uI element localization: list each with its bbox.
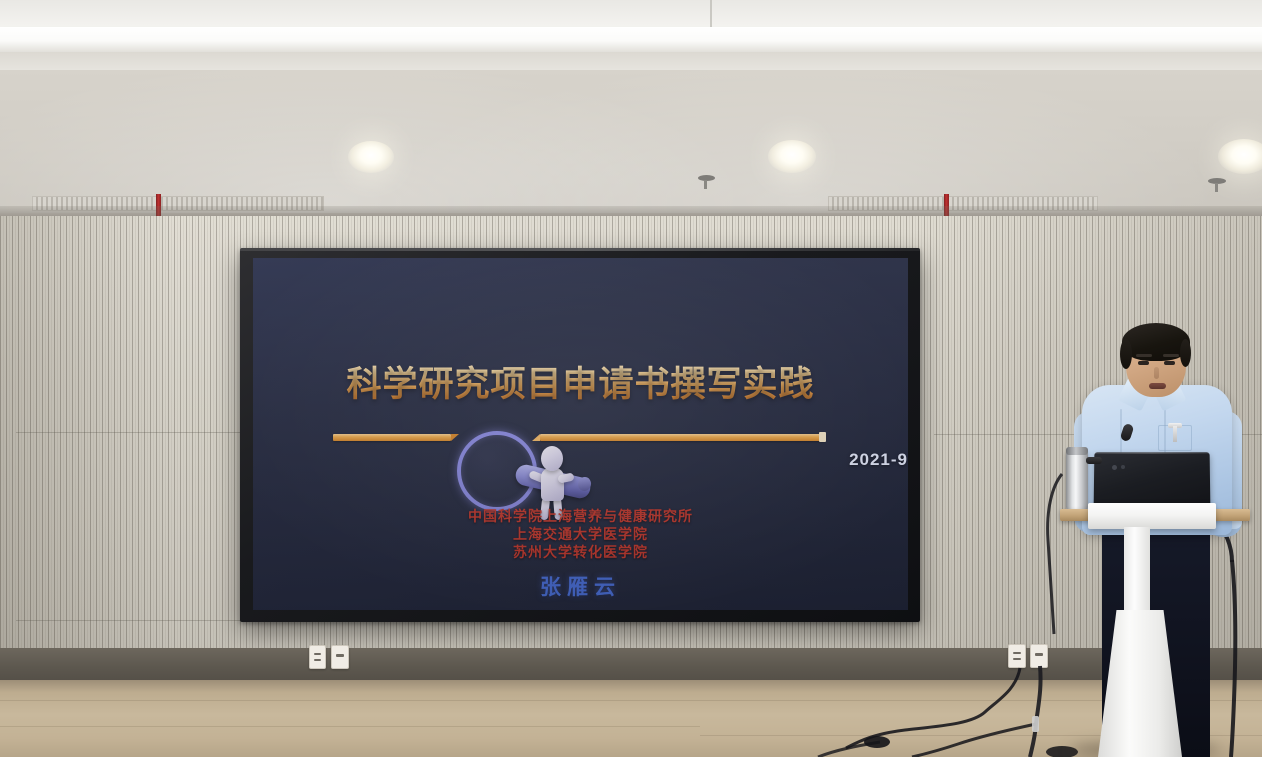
speaker-hair-side [1180, 339, 1191, 367]
laptop-lens-icon [1121, 465, 1125, 469]
affiliation-line: 上海交通大学医学院 [253, 526, 908, 544]
affiliation-line: 中国科学院上海营养与健康研究所 [253, 508, 908, 526]
presentation-slide[interactable]: 科学研究项目申请书撰写实践 2021-9 中国科学院上海营养与健康研究所 上海交… [253, 258, 908, 610]
mouth [1149, 383, 1166, 389]
panel-seam [16, 432, 246, 433]
slide-divider-cap [819, 432, 826, 442]
laptop-lens-icon [1112, 465, 1117, 470]
speaker-hair-side [1120, 339, 1132, 369]
laptop[interactable] [1094, 452, 1211, 510]
wall-outlet[interactable] [1030, 644, 1048, 668]
eyebrow-left [1136, 354, 1152, 357]
floor-plank-seam [0, 726, 700, 727]
wall-outlet[interactable] [331, 645, 349, 669]
nose [1154, 367, 1159, 379]
laptop-lid-edge [1094, 452, 1210, 454]
ceiling-sprinkler-stem [704, 180, 707, 189]
eye-left [1138, 361, 1149, 365]
figure-head [541, 446, 563, 471]
pen-body-icon [1173, 426, 1177, 442]
downlight-icon [768, 140, 816, 173]
affiliation-line: 苏州大学转化医学院 [253, 544, 908, 562]
ceiling-beam-face [0, 52, 1262, 72]
thermos[interactable] [1066, 450, 1088, 510]
podium-top [1088, 503, 1216, 529]
thermos-cap[interactable] [1066, 447, 1088, 455]
eye-right [1164, 361, 1175, 365]
wall-outlet[interactable] [1008, 644, 1026, 668]
slide-date: 2021-9 [253, 450, 908, 470]
eyebrow-right [1163, 354, 1179, 357]
slide-title: 科学研究项目申请书撰写实践 [253, 356, 908, 407]
ceiling-sprinkler-stem [1215, 183, 1218, 192]
figure-body [541, 468, 564, 501]
display-bezel-highlight [240, 248, 920, 251]
presenter-name: 张雁云 [253, 571, 908, 601]
panel-seam [16, 620, 246, 621]
downlight-icon [348, 141, 394, 173]
slide-divider-right [540, 434, 825, 441]
photo-scene: 科学研究项目申请书撰写实践 2021-9 中国科学院上海营养与健康研究所 上海交… [0, 0, 1262, 757]
microphone-base[interactable] [1086, 457, 1102, 464]
upper-wall [0, 70, 1262, 213]
wall-outlet[interactable] [309, 645, 326, 669]
slide-divider-left [333, 434, 451, 441]
podium-column [1124, 527, 1150, 615]
affiliation-block: 中国科学院上海营养与健康研究所 上海交通大学医学院 苏州大学转化医学院 张雁云 [253, 508, 908, 601]
downlight-icon [1218, 139, 1262, 174]
ceiling-beam [0, 27, 1262, 52]
